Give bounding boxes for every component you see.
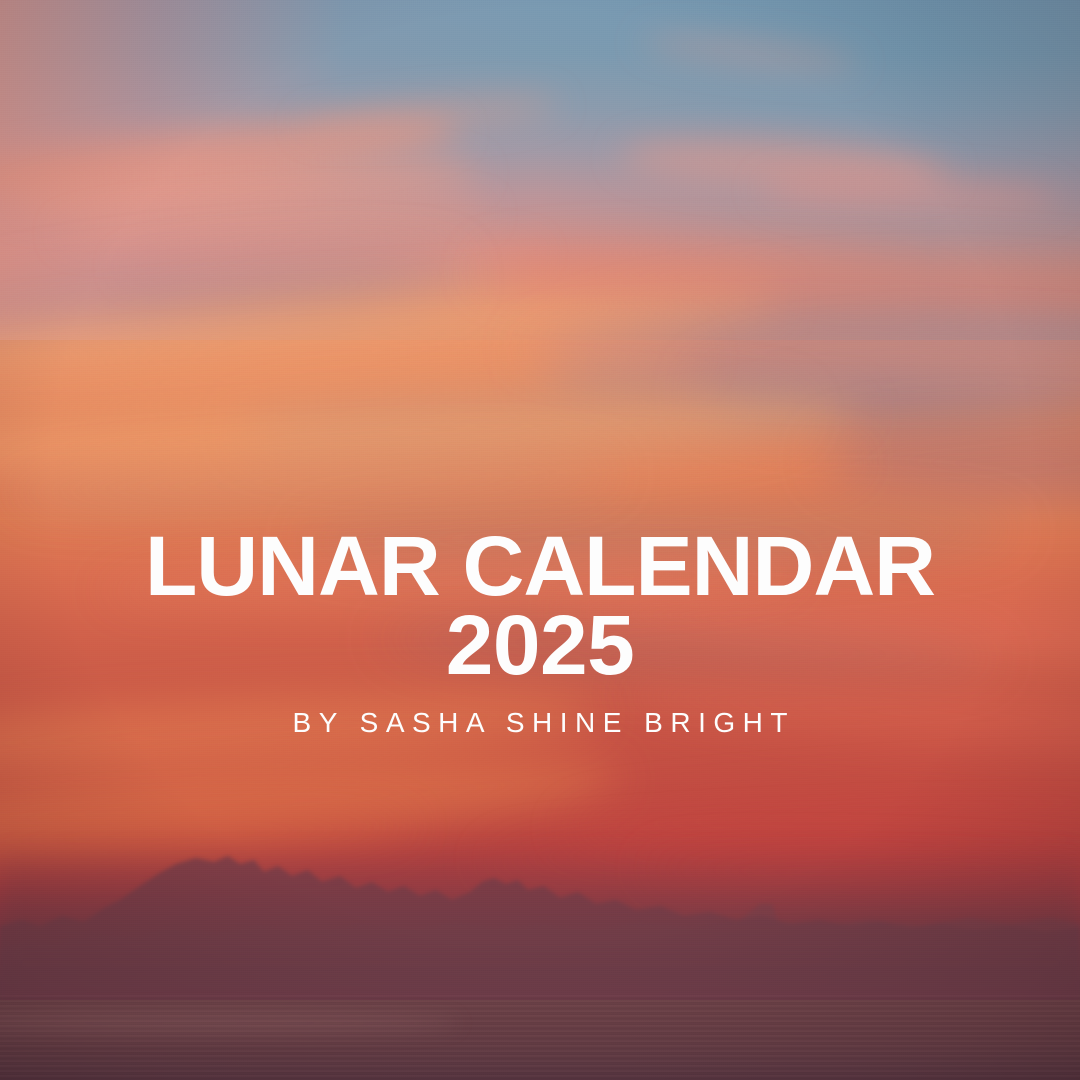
poster-author-subtitle: BY SASHA SHINE BRIGHT [0,707,1080,739]
poster-canvas: LUNAR CALENDAR 2025 BY SASHA SHINE BRIGH… [0,0,1080,1080]
poster-text-block: LUNAR CALENDAR 2025 BY SASHA SHINE BRIGH… [0,528,1080,739]
page-title-line-1: LUNAR CALENDAR [0,528,1080,605]
page-title-line-2-year: 2025 [0,607,1080,684]
